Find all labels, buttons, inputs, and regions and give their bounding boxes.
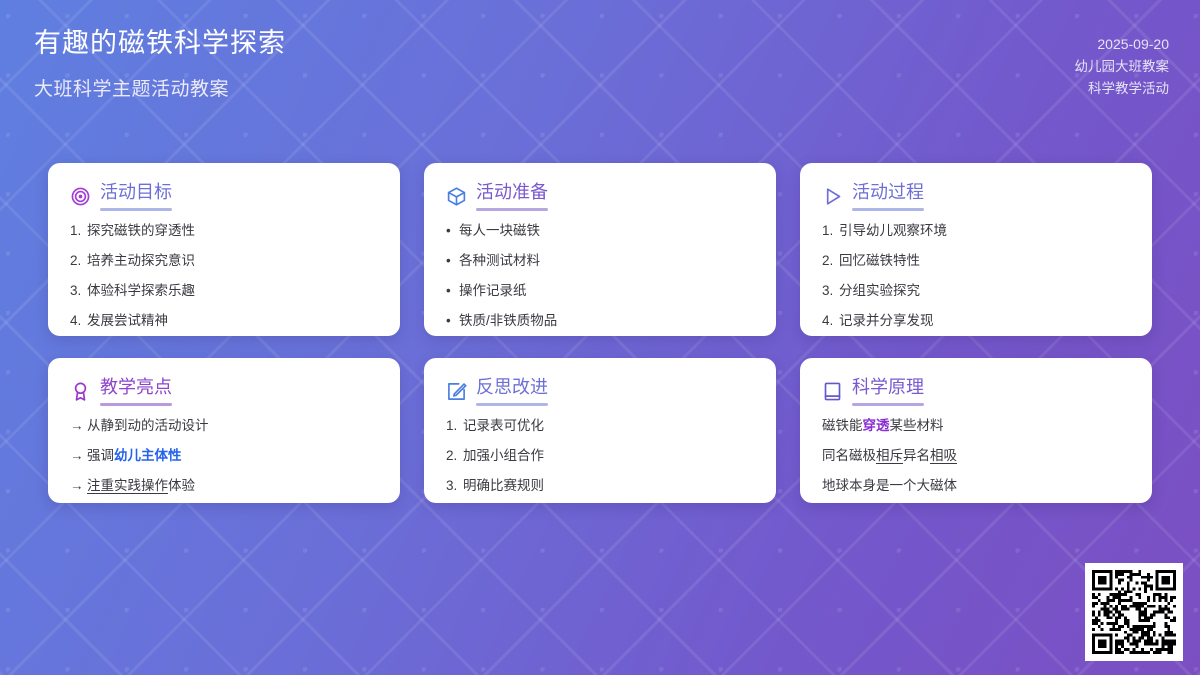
list-item-text: 记录表可优化 — [463, 418, 544, 433]
list-item: 地球本身是一个大磁体 — [822, 477, 1130, 495]
card-reflection-improvement: 反思改进1.记录表可优化2.加强小组合作3.明确比赛规则 — [424, 358, 776, 503]
list-item: 1.记录表可优化 — [446, 417, 754, 435]
card-header: 教学亮点 — [70, 377, 378, 406]
list-item-text: 地球本身是一个大磁体 — [822, 478, 957, 493]
list-marker: 1. — [822, 222, 839, 240]
list-marker: • — [446, 222, 459, 240]
card-title: 科学原理 — [852, 377, 924, 398]
list-item-text: 同名磁极相斥异名相吸 — [822, 448, 957, 463]
list-item-text: 操作记录纸 — [459, 283, 527, 298]
list-item: •操作记录纸 — [446, 282, 754, 300]
card-title: 教学亮点 — [100, 377, 172, 398]
card-header: 活动目标 — [70, 182, 378, 211]
list-item-text: 培养主动探究意识 — [87, 253, 195, 268]
list-item-text: 引导幼儿观察环境 — [839, 223, 947, 238]
card-header: 活动准备 — [446, 182, 754, 211]
list-marker: 3. — [822, 282, 839, 300]
title-block: 有趣的磁铁科学探索 大班科学主题活动教案 — [34, 27, 286, 101]
list-marker: 3. — [70, 282, 87, 300]
edit-square-icon — [446, 381, 467, 402]
list-item: 磁铁能穿透某些材料 — [822, 417, 1130, 435]
list-item: →强调幼儿主体性 — [70, 447, 378, 465]
card-science-principle: 科学原理磁铁能穿透某些材料同名磁极相斥异名相吸地球本身是一个大磁体 — [800, 358, 1152, 503]
list-item: →从静到动的活动设计 — [70, 417, 378, 435]
list-item: 3.明确比赛规则 — [446, 477, 754, 495]
list-item-text: 各种测试材料 — [459, 253, 540, 268]
card-body: •每人一块磁铁•各种测试材料•操作记录纸•铁质/非铁质物品 — [446, 222, 754, 330]
list-item: →注重实践操作体验 — [70, 477, 378, 495]
list-item-text: 注重实践操作体验 — [87, 478, 195, 493]
meta-category: 幼儿园大班教案 — [1075, 56, 1170, 78]
list-item: 3.分组实验探究 — [822, 282, 1130, 300]
qr-code[interactable] — [1085, 563, 1183, 661]
list-marker: 1. — [446, 417, 463, 435]
card-title-underline — [476, 208, 548, 211]
page-title: 有趣的磁铁科学探索 — [34, 27, 286, 61]
list-marker: 1. — [70, 222, 87, 240]
card-title-underline — [100, 403, 172, 406]
list-item: •铁质/非铁质物品 — [446, 312, 754, 330]
list-item-text: 铁质/非铁质物品 — [459, 313, 557, 328]
card-activity-preparation: 活动准备•每人一块磁铁•各种测试材料•操作记录纸•铁质/非铁质物品 — [424, 163, 776, 336]
card-title-wrap: 活动准备 — [476, 182, 548, 211]
list-item-text: 每人一块磁铁 — [459, 223, 540, 238]
cube-icon — [446, 186, 467, 207]
card-title: 活动目标 — [100, 182, 172, 203]
page-subtitle: 大班科学主题活动教案 — [34, 74, 286, 101]
list-marker: • — [446, 312, 459, 330]
list-item-text: 强调幼儿主体性 — [87, 448, 182, 463]
slide-root: 有趣的磁铁科学探索 大班科学主题活动教案 2025-09-20 幼儿园大班教案 … — [0, 0, 1200, 675]
slide-header: 有趣的磁铁科学探索 大班科学主题活动教案 2025-09-20 幼儿园大班教案 … — [0, 0, 1200, 148]
list-item-text: 记录并分享发现 — [839, 313, 934, 328]
list-marker: • — [446, 252, 459, 270]
list-item-text: 体验科学探索乐趣 — [87, 283, 195, 298]
list-item: 4.发展尝试精神 — [70, 312, 378, 330]
card-title-wrap: 活动过程 — [852, 182, 924, 211]
card-body: 1.记录表可优化2.加强小组合作3.明确比赛规则 — [446, 417, 754, 495]
card-body: 磁铁能穿透某些材料同名磁极相斥异名相吸地球本身是一个大磁体 — [822, 417, 1130, 495]
list-item-text: 磁铁能穿透某些材料 — [822, 418, 944, 433]
list-marker: 2. — [822, 252, 839, 270]
list-item-text: 探究磁铁的穿透性 — [87, 223, 195, 238]
list-item-text: 发展尝试精神 — [87, 313, 168, 328]
card-title: 活动过程 — [852, 182, 924, 203]
card-header: 科学原理 — [822, 377, 1130, 406]
header-meta: 2025-09-20 幼儿园大班教案 科学教学活动 — [1075, 33, 1170, 99]
list-item: 2.加强小组合作 — [446, 447, 754, 465]
list-item-text: 明确比赛规则 — [463, 478, 544, 493]
qr-code-image — [1092, 570, 1176, 654]
meta-date: 2025-09-20 — [1075, 33, 1170, 56]
card-body: 1.引导幼儿观察环境2.回忆磁铁特性3.分组实验探究4.记录并分享发现 — [822, 222, 1130, 330]
card-body: 1.探究磁铁的穿透性2.培养主动探究意识3.体验科学探索乐趣4.发展尝试精神 — [70, 222, 378, 330]
target-icon — [70, 186, 91, 207]
card-body: →从静到动的活动设计→强调幼儿主体性→注重实践操作体验 — [70, 417, 378, 495]
list-marker: 3. — [446, 477, 463, 495]
list-marker: → — [70, 417, 87, 435]
emphasis-text: 相斥 — [876, 448, 903, 463]
list-item-text: 分组实验探究 — [839, 283, 920, 298]
list-marker: 2. — [446, 447, 463, 465]
card-header: 活动过程 — [822, 182, 1130, 211]
card-title: 反思改进 — [476, 377, 548, 398]
card-title-wrap: 科学原理 — [852, 377, 924, 406]
card-activity-process: 活动过程1.引导幼儿观察环境2.回忆磁铁特性3.分组实验探究4.记录并分享发现 — [800, 163, 1152, 336]
card-title-wrap: 反思改进 — [476, 377, 548, 406]
list-item-text: 回忆磁铁特性 — [839, 253, 920, 268]
card-teaching-highlights: 教学亮点→从静到动的活动设计→强调幼儿主体性→注重实践操作体验 — [48, 358, 400, 503]
list-item: 3.体验科学探索乐趣 — [70, 282, 378, 300]
card-title-underline — [852, 208, 924, 211]
card-header: 反思改进 — [446, 377, 754, 406]
card-title-underline — [476, 403, 548, 406]
play-triangle-icon — [822, 186, 843, 207]
list-item: 1.引导幼儿观察环境 — [822, 222, 1130, 240]
card-activity-goals: 活动目标1.探究磁铁的穿透性2.培养主动探究意识3.体验科学探索乐趣4.发展尝试… — [48, 163, 400, 336]
card-title-underline — [100, 208, 172, 211]
list-marker: • — [446, 282, 459, 300]
list-item: •各种测试材料 — [446, 252, 754, 270]
meta-subject: 科学教学活动 — [1075, 78, 1170, 100]
list-marker: 4. — [70, 312, 87, 330]
list-item: 2.培养主动探究意识 — [70, 252, 378, 270]
list-marker: 2. — [70, 252, 87, 270]
list-marker: 4. — [822, 312, 839, 330]
card-title-wrap: 教学亮点 — [100, 377, 172, 406]
award-ribbon-icon — [70, 381, 91, 402]
list-item: 4.记录并分享发现 — [822, 312, 1130, 330]
emphasis-text: 穿透 — [863, 418, 890, 433]
emphasis-text: 注重实践操作 — [87, 478, 168, 493]
list-marker: → — [70, 447, 87, 465]
list-item-text: 从静到动的活动设计 — [87, 418, 209, 433]
list-item-text: 加强小组合作 — [463, 448, 544, 463]
card-title-underline — [852, 403, 924, 406]
list-item: •每人一块磁铁 — [446, 222, 754, 240]
book-icon — [822, 381, 843, 402]
emphasis-text: 相吸 — [930, 448, 957, 463]
card-grid: 活动目标1.探究磁铁的穿透性2.培养主动探究意识3.体验科学探索乐趣4.发展尝试… — [48, 163, 1152, 503]
list-item: 1.探究磁铁的穿透性 — [70, 222, 378, 240]
list-item: 同名磁极相斥异名相吸 — [822, 447, 1130, 465]
card-title-wrap: 活动目标 — [100, 182, 172, 211]
emphasis-text: 幼儿主体性 — [114, 448, 182, 463]
list-item: 2.回忆磁铁特性 — [822, 252, 1130, 270]
list-marker: → — [70, 477, 87, 495]
card-title: 活动准备 — [476, 182, 548, 203]
